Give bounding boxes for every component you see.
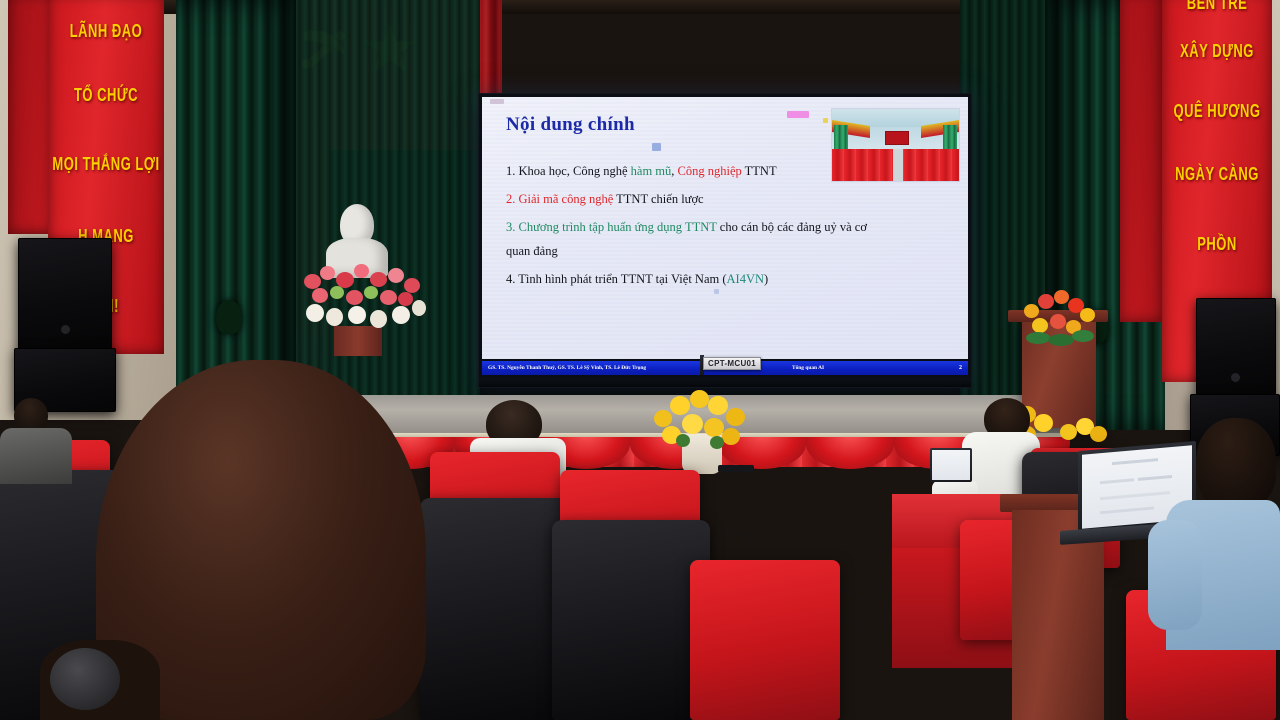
banner-right-outer [1120, 0, 1162, 322]
sunflower-arrangement-stage [648, 386, 758, 476]
slide-artifact-3 [823, 118, 828, 123]
presentation-slide: Nội dung chính 1. Khoa học, Công nghệ hà… [482, 97, 968, 359]
sunflower-cluster-podium-right [1060, 418, 1108, 452]
conference-hall-photo: LÃNH ĐẠO TỔ CHỨC MỌI THẮNG LỢI H MẠNG AM… [0, 0, 1280, 720]
slide-bullet-line: 3. Chương trình tập huấn ứng dụng TTNT c… [506, 221, 867, 234]
slide-bullet-segment: Giải mã công nghệ [515, 192, 613, 206]
audience-person-blue-head [1196, 418, 1276, 510]
slide-artifact-1 [490, 99, 504, 104]
slide-bullet-segment: AI4VN [727, 272, 765, 286]
slide-bullet-line: 2. Giải mã công nghệ TTNT chiến lược [506, 193, 704, 206]
banner-right-line-3: QUÊ HƯƠNG [1162, 101, 1272, 120]
banner-right-line-2: XÂY DỰNG [1162, 41, 1272, 60]
bust-pedestal-group [300, 196, 440, 356]
slide-footer-authors: GS. TS. Nguyễn Thanh Thuỷ, GS. TS. Lê Sỹ… [488, 365, 646, 371]
banner-left-outer [8, 0, 52, 234]
banner-left-line-1: LÃNH ĐẠO [48, 21, 164, 40]
slide-bullet-segment: TTNT chiến lược [613, 192, 703, 206]
banner-right-line-4: NGÀY CÀNG [1162, 164, 1272, 183]
slide-bullet-segment: quan đảng [506, 244, 558, 258]
device-label-osd: CPT-MCU01 [703, 357, 761, 370]
slide-title: Nội dung chính [506, 114, 635, 136]
slide-bullet-index: 1. [506, 164, 515, 178]
podium-flower-arrangement [1022, 288, 1098, 348]
seat-row-red-3 [690, 560, 840, 720]
slide-artifact-4 [652, 143, 661, 151]
banner-right-line-1: BẾN TRE [1162, 0, 1272, 12]
audience-person-grey-head [14, 398, 48, 432]
banner-right-line-5: PHỒN [1162, 234, 1272, 253]
banner-left-line-3: MỌI THẮNG LỢI [48, 154, 164, 173]
projection-screen: Nội dung chính 1. Khoa học, Công nghệ hà… [478, 93, 972, 388]
slide-bullet-segment: hàm mũ [631, 164, 672, 178]
headphone-earcup [50, 648, 120, 710]
slide-bullet-segment: cho cán bộ các đảng uỷ và cơ [717, 220, 867, 234]
slide-artifact-5 [714, 289, 719, 294]
green-curtain-left [176, 0, 296, 420]
seat-row-black-2 [552, 520, 710, 720]
slide-bullet-index: 2. [506, 192, 515, 206]
audience-person-blue-arm [1148, 520, 1202, 630]
slide-bullet-line: quan đảng [506, 245, 558, 258]
slide-footer-section: Tổng quan AI [792, 365, 824, 371]
curtain-tieback-left [216, 300, 242, 334]
slide-bullet-segment: TTNT [742, 164, 777, 178]
slide-bullet-segment: ) [764, 272, 768, 286]
slide-footer-page-number: 2 [959, 365, 962, 371]
slide-bullet-segment: Khoa học, Công nghệ [515, 164, 630, 178]
slide-thumbnail-image [831, 108, 960, 182]
banner-left-line-2: TỔ CHỨC [48, 85, 164, 104]
slide-bullet-index: 4. [506, 272, 515, 286]
slide-artifact-2 [787, 111, 809, 118]
slide-bullet-segment: Tình hình phát triển TTNT tại Việt Nam ( [515, 272, 726, 286]
speaker-right-top [1196, 298, 1276, 396]
slide-bullet-index: 3. [506, 220, 515, 234]
slide-bullet-line: 4. Tình hình phát triển TTNT tại Việt Na… [506, 273, 768, 286]
flower-arrangement-bust [300, 256, 430, 334]
stage-av-device [718, 465, 754, 472]
speaker-left-top [18, 238, 112, 350]
slide-bullet-segment: Công nghiệp [678, 164, 742, 178]
slide-bullet-segment: Chương trình tập huấn ứng dụng TTNT [515, 220, 716, 234]
seat-row-black-1 [420, 498, 570, 720]
laptop-back-lid [930, 448, 972, 482]
slide-bullet-line: 1. Khoa học, Công nghệ hàm mũ, Công nghi… [506, 165, 777, 178]
audience-person-grey-body [0, 428, 72, 484]
